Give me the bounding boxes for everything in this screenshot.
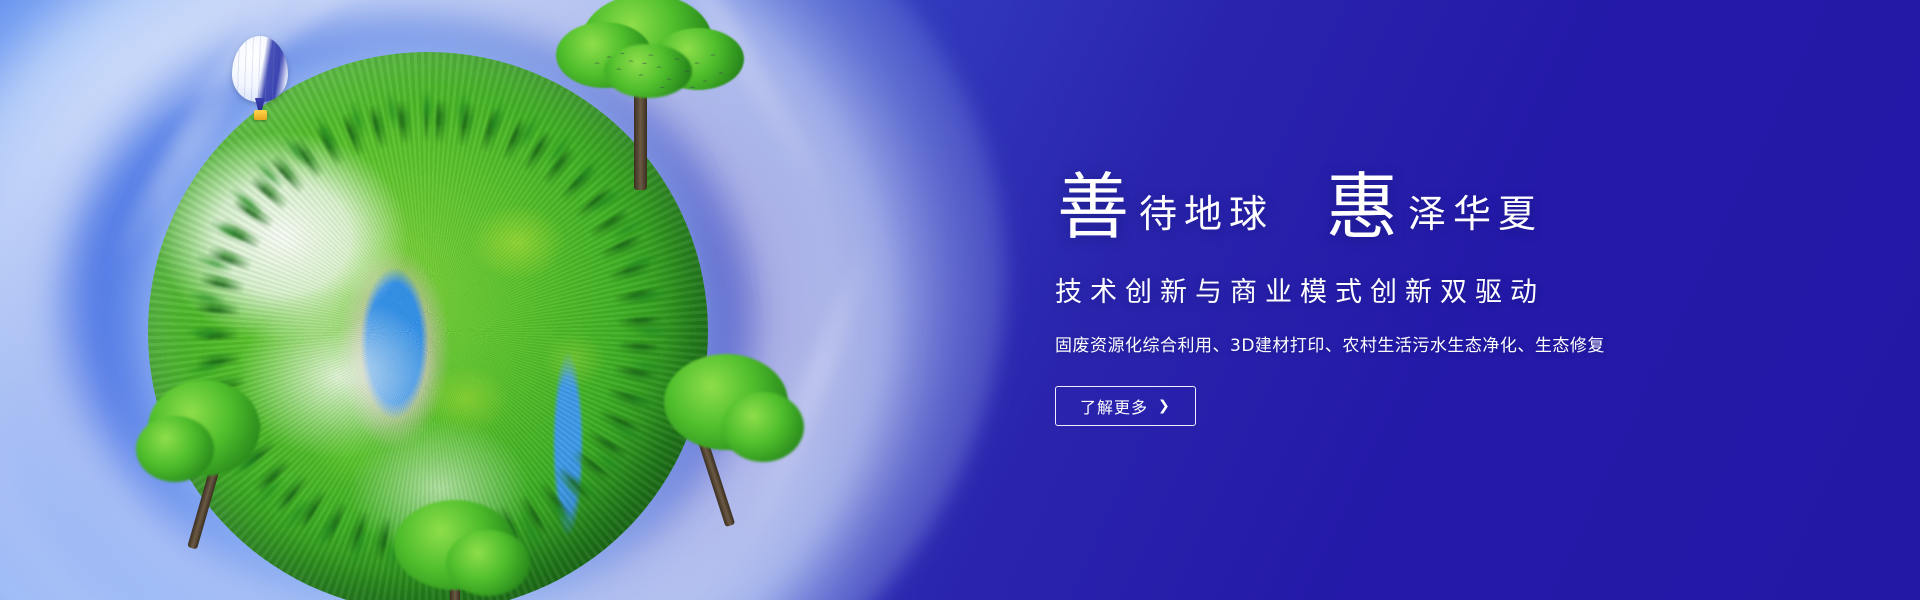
globe-illustration bbox=[148, 52, 708, 600]
hero-banner: 善 待地球 惠 泽华夏 技术创新与商业模式创新双驱动 固废资源化综合利用、3D建… bbox=[0, 0, 1920, 600]
banner-content: 善 待地球 惠 泽华夏 技术创新与商业模式创新双驱动 固废资源化综合利用、3D建… bbox=[1055, 0, 1815, 600]
learn-more-label: 了解更多 bbox=[1080, 394, 1148, 418]
headline: 善 待地球 惠 泽华夏 bbox=[1055, 174, 1543, 242]
headline-phrase-one: 善 待地球 bbox=[1057, 174, 1274, 242]
headline-lead-char: 善 bbox=[1057, 174, 1129, 242]
balloon-neck bbox=[255, 98, 265, 110]
banner-description: 固废资源化综合利用、3D建材打印、农村生活污水生态净化、生态修复 bbox=[1055, 331, 1605, 356]
chevron-right-icon: ❯ bbox=[1158, 399, 1171, 413]
banner-subtitle: 技术创新与商业模式创新双驱动 bbox=[1055, 270, 1545, 309]
balloon-basket bbox=[254, 110, 267, 120]
tree-crown bbox=[136, 416, 214, 482]
tree-icon bbox=[648, 348, 808, 538]
headline-rest-chars: 待地球 bbox=[1139, 195, 1274, 233]
tree-crown bbox=[446, 530, 530, 596]
balloon-envelope bbox=[232, 36, 288, 102]
headline-rest-chars: 泽华夏 bbox=[1408, 195, 1543, 233]
headline-phrase-two: 惠 泽华夏 bbox=[1326, 174, 1543, 242]
tree-crown bbox=[722, 392, 804, 462]
tree-icon bbox=[384, 496, 534, 600]
tree-icon bbox=[136, 370, 276, 550]
learn-more-button[interactable]: 了解更多 ❯ bbox=[1055, 386, 1196, 426]
headline-lead-char: 惠 bbox=[1326, 174, 1398, 242]
hot-air-balloon-icon bbox=[232, 36, 288, 128]
bird-flock-icon bbox=[590, 50, 730, 98]
